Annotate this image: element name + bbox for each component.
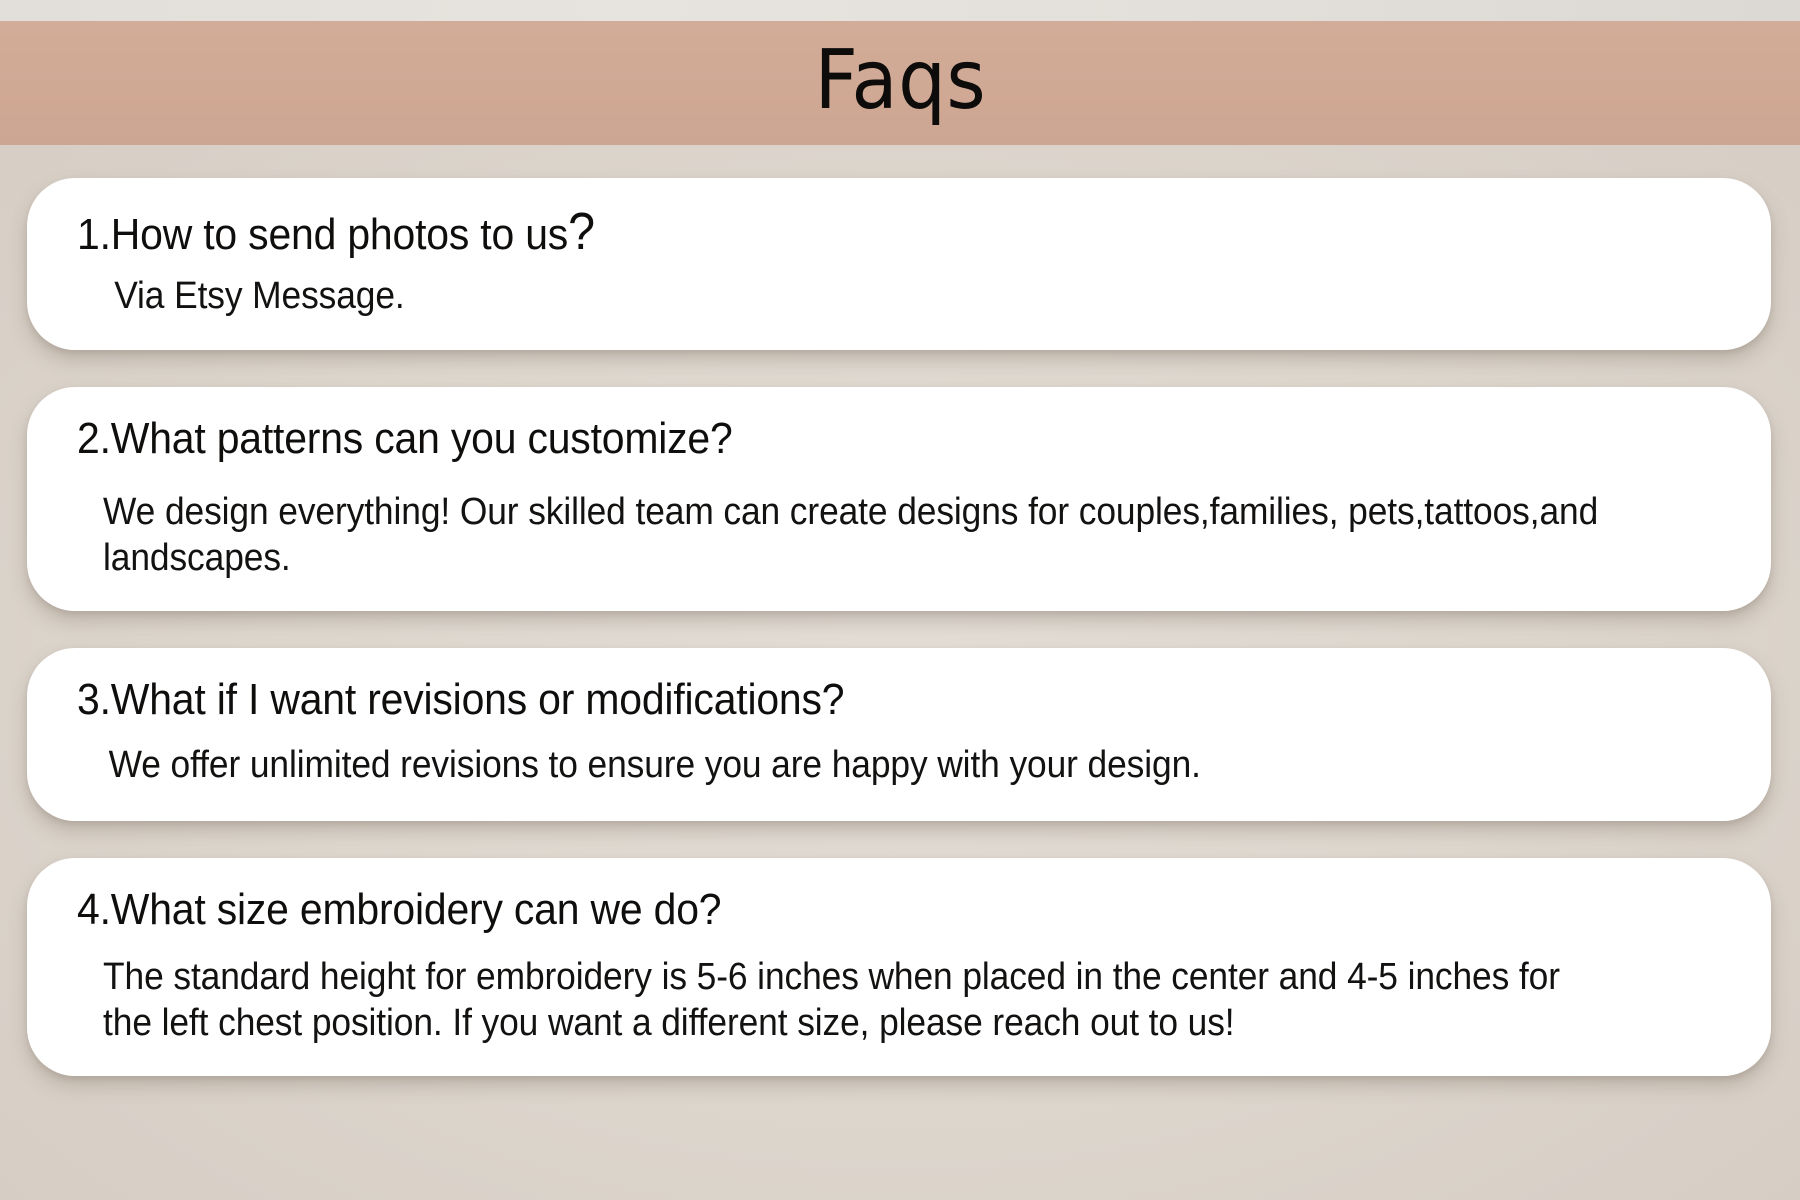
faq-question-text: What patterns can you customize [111, 414, 710, 463]
faq-question-mark: ? [568, 203, 595, 261]
faq-card[interactable]: 1.How to send photos to us? Via Etsy Mes… [27, 178, 1771, 350]
faq-card[interactable]: 2.What patterns can you customize? We de… [27, 387, 1771, 612]
faq-question-mark: ? [822, 675, 845, 724]
faq-question-text: How to send photos to us [111, 210, 568, 259]
faq-card[interactable]: 4.What size embroidery can we do? The st… [27, 858, 1771, 1077]
top-strip [0, 0, 1800, 21]
faq-answer: Via Etsy Message. [77, 273, 1610, 319]
faq-question-text: What size embroidery can we do [111, 885, 699, 934]
faq-question: 4.What size embroidery can we do? [77, 884, 1610, 936]
faq-number: 3. [77, 675, 111, 724]
faq-answer: The standard height for embroidery is 5-… [77, 954, 1610, 1047]
faq-question: 2.What patterns can you customize? [77, 413, 1610, 465]
title-band: Faqs [0, 21, 1800, 145]
faq-question-mark: ? [710, 414, 733, 463]
faq-question: 3.What if I want revisions or modificati… [77, 674, 1610, 726]
faq-card-list: 1.How to send photos to us? Via Etsy Mes… [27, 178, 1771, 1076]
faq-number: 1. [77, 210, 111, 259]
faq-number: 2. [77, 414, 111, 463]
faq-card[interactable]: 3.What if I want revisions or modificati… [27, 648, 1771, 820]
faq-answer: We offer unlimited revisions to ensure y… [77, 742, 1610, 788]
faq-slide: Faqs 1.How to send photos to us? Via Ets… [0, 0, 1800, 1200]
page-title: Faqs [814, 40, 986, 122]
faq-question-text: What if I want revisions or modification… [111, 675, 822, 724]
faq-answer: We design everything! Our skilled team c… [77, 489, 1610, 582]
faq-question-mark: ? [699, 885, 722, 934]
faq-question: 1.How to send photos to us? [77, 202, 1610, 263]
faq-number: 4. [77, 885, 111, 934]
